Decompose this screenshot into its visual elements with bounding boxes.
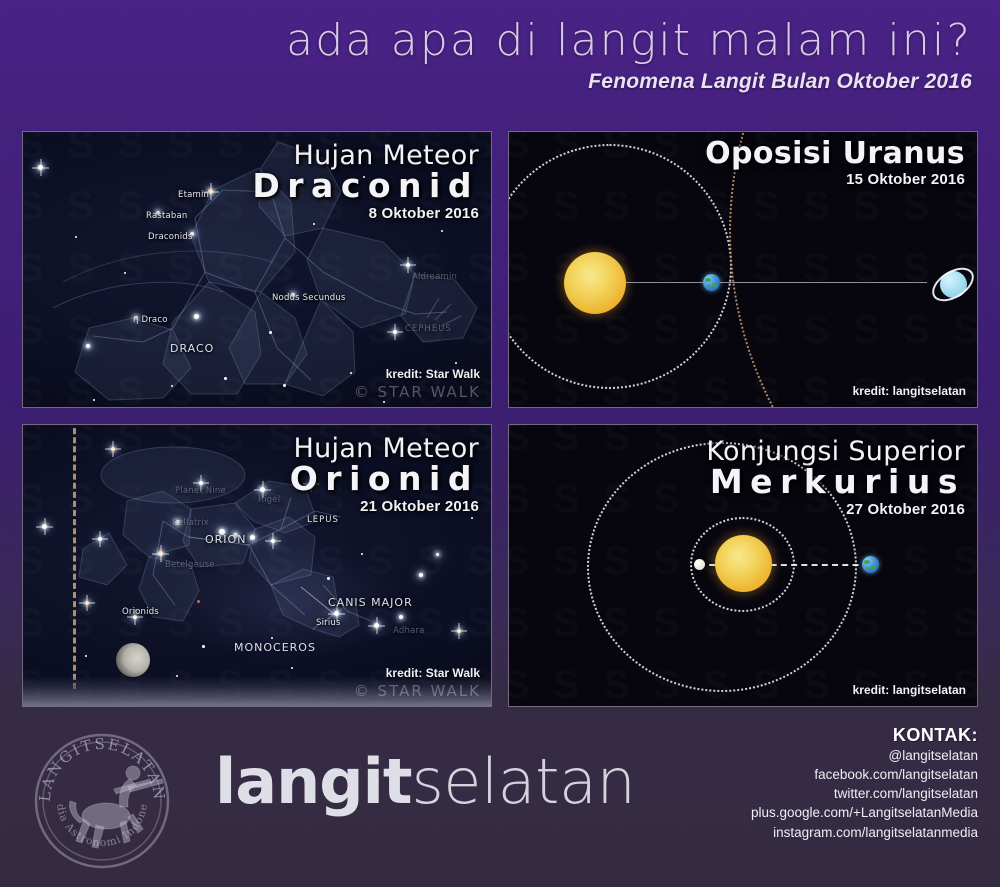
star-decorative bbox=[313, 223, 315, 225]
star-decorative bbox=[224, 377, 227, 380]
star-label: ORION bbox=[205, 533, 246, 546]
watermark-glyph-s: S bbox=[982, 508, 1000, 554]
watermark-glyph-s: S bbox=[0, 138, 21, 184]
panel-uranus-heading: Oposisi Uranus 15 Oktober 2016 bbox=[705, 140, 965, 188]
uranus-group bbox=[929, 260, 977, 308]
watermark-glyph-s: S bbox=[953, 541, 978, 581]
watermark-glyph-s: S bbox=[508, 424, 530, 457]
star-label: Sirius bbox=[316, 618, 341, 628]
star-sirius bbox=[334, 611, 339, 616]
watermark-glyph-s: S bbox=[0, 212, 21, 258]
contact-block: KONTAK: @langitselatanfacebook.com/langi… bbox=[751, 725, 978, 842]
star-label: Rastaban bbox=[146, 211, 188, 221]
earth bbox=[703, 274, 720, 291]
panel-name: Oposisi Uranus bbox=[705, 138, 965, 170]
star-label: Draconids bbox=[148, 232, 193, 242]
panel-draconid-heading: Hujan Meteor Draconid 8 Oktober 2016 bbox=[252, 142, 479, 222]
watermark-glyph-s: S bbox=[982, 212, 1000, 258]
star-decorative bbox=[455, 362, 457, 364]
star-decorative bbox=[202, 645, 205, 648]
header: ada apa di langit malam ini? Fenomena La… bbox=[0, 18, 1000, 94]
panel-draconid[interactable]: SSSSSSSSSSSSSSSSSSSSSSSSSSSSSSSSSSSSSSSS… bbox=[22, 131, 492, 408]
watermark-glyph-s: S bbox=[982, 138, 1000, 184]
star-betelgeuse bbox=[158, 551, 163, 556]
star-label: CANIS MAJOR bbox=[328, 596, 413, 609]
contact-heading: KONTAK: bbox=[751, 725, 978, 746]
star-decorative bbox=[436, 553, 439, 556]
star-orion-belt-3 bbox=[250, 535, 255, 540]
star-decorative bbox=[383, 401, 385, 403]
panel-name: Merkurius bbox=[706, 465, 965, 500]
star-label: η Draco bbox=[133, 315, 168, 325]
footer: LANGITSELATAN #Media Astronomi Indonesia… bbox=[0, 707, 1000, 887]
panel-orionid[interactable]: SSSSSSSSSSSSSSSSSSSSSSSSSSSSSSSSSSSSSSSS… bbox=[22, 424, 492, 707]
panel-oposisi-uranus[interactable]: SSSSSSSSSSSSSSSSSSSSSSSSSSSSSSSSSSSSSSSS… bbox=[508, 131, 978, 408]
star-label: MONOCEROS bbox=[234, 641, 316, 654]
earth bbox=[862, 556, 879, 573]
star-saiph bbox=[271, 539, 275, 543]
contact-link[interactable]: @langitselatan bbox=[751, 746, 978, 765]
star-decorative bbox=[75, 236, 77, 238]
starwalk-watermark: © STAR WALK bbox=[354, 383, 481, 401]
panel-merkurius-heading: Konjungsi Superior Merkurius 27 Oktober … bbox=[706, 438, 965, 518]
watermark-glyph-s: S bbox=[903, 541, 930, 581]
watermark-glyph-s: S bbox=[508, 131, 530, 164]
star-label: Nodus Secundus bbox=[272, 293, 346, 303]
star-decorative bbox=[111, 447, 115, 451]
star-decorative bbox=[124, 272, 126, 274]
watermark-glyph-s: S bbox=[508, 603, 530, 643]
starwalk-watermark: © STAR WALK bbox=[354, 682, 481, 700]
watermark-glyph-s: S bbox=[703, 372, 730, 408]
infographic-canvas: SSSSSSSSSSSSSSSSSSSSSSSSSSSSSSSSSSSSSSSS… bbox=[0, 0, 1000, 887]
watermark-glyph-s: S bbox=[0, 508, 21, 554]
watermark-glyph-s: S bbox=[603, 665, 630, 705]
star-decorative bbox=[350, 372, 352, 374]
star-decorative bbox=[271, 637, 273, 639]
wordmark-bold: langit bbox=[215, 745, 412, 818]
panel-name: Draconid bbox=[252, 169, 479, 204]
contact-link[interactable]: instagram.com/langitselatanmedia bbox=[751, 823, 978, 842]
star-label: Bellatrix bbox=[172, 518, 209, 528]
watermark-glyph-s: S bbox=[553, 479, 580, 519]
panel-konjungsi-merkurius[interactable]: SSSSSSSSSSSSSSSSSSSSSSSSSSSSSSSSSSSSSSSS… bbox=[508, 424, 978, 707]
seal-top-text: LANGITSELATAN bbox=[36, 735, 169, 803]
star-decorative bbox=[93, 399, 95, 401]
star-decorative bbox=[471, 517, 473, 519]
watermark-glyph-s: S bbox=[953, 603, 978, 643]
watermark-glyph-s: S bbox=[0, 286, 21, 332]
watermark-glyph-s: S bbox=[508, 479, 530, 519]
star-decorative bbox=[327, 577, 330, 580]
star-label: DRACO bbox=[170, 342, 214, 355]
star-adhara bbox=[374, 623, 379, 628]
watermark-glyph-s: S bbox=[0, 582, 21, 628]
watermark-glyph-s: S bbox=[982, 286, 1000, 332]
contact-link[interactable]: facebook.com/langitselatan bbox=[751, 765, 978, 784]
watermark-glyph-s: S bbox=[553, 603, 580, 643]
star-decorative bbox=[419, 573, 423, 577]
watermark-glyph-s: S bbox=[853, 603, 880, 643]
contact-links: @langitselatanfacebook.com/langitselatan… bbox=[751, 746, 978, 842]
star-decorative bbox=[38, 165, 43, 170]
star-decorative bbox=[42, 524, 47, 529]
panel-date: 15 Oktober 2016 bbox=[705, 171, 965, 188]
langitselatan-wordmark: langitselatan bbox=[215, 751, 635, 813]
watermark-glyph-s: S bbox=[508, 665, 530, 705]
star-planet-nine bbox=[199, 481, 203, 485]
watermark-glyph-s: S bbox=[0, 434, 21, 480]
star-cepheus-alpha bbox=[393, 330, 397, 334]
moon bbox=[116, 643, 150, 677]
opposition-alignment-line bbox=[607, 282, 927, 283]
contact-link[interactable]: twitter.com/langitselatan bbox=[751, 784, 978, 803]
star-decorative bbox=[291, 667, 293, 669]
page-subtitle: Fenomena Langit Bulan Oktober 2016 bbox=[0, 70, 972, 94]
panel-credit: kredit: Star Walk bbox=[386, 666, 480, 680]
panel-credit: kredit: langitselatan bbox=[853, 384, 966, 398]
watermark-glyph-s: S bbox=[508, 372, 530, 408]
mercury bbox=[694, 559, 705, 570]
page-title: ada apa di langit malam ini? bbox=[0, 18, 972, 64]
watermark-glyph-s: S bbox=[553, 541, 580, 581]
star-decorative bbox=[361, 553, 363, 555]
star-rigel bbox=[260, 487, 265, 492]
star-label: Orionids bbox=[122, 607, 159, 617]
star-label: LEPUS bbox=[307, 515, 339, 525]
watermark-glyph-s: S bbox=[553, 665, 580, 705]
watermark-glyph-s: S bbox=[803, 665, 830, 705]
panel-credit: kredit: langitselatan bbox=[853, 683, 966, 697]
star-decorative bbox=[441, 230, 443, 232]
watermark-glyph-s: S bbox=[903, 603, 930, 643]
star-label: Adhara bbox=[393, 626, 425, 636]
panel-name: Orionid bbox=[290, 462, 479, 497]
watermark-glyph-s: S bbox=[603, 424, 630, 457]
watermark-glyph-s: S bbox=[982, 434, 1000, 480]
star-bright-draco bbox=[194, 314, 199, 319]
star-decorative bbox=[86, 344, 90, 348]
watermark-glyph-s: S bbox=[982, 360, 1000, 406]
watermark-glyph-s: S bbox=[553, 424, 580, 457]
watermark-glyph-s: S bbox=[982, 656, 1000, 702]
watermark-glyph-s: S bbox=[508, 541, 530, 581]
sun bbox=[715, 535, 772, 592]
wordmark-thin: selatan bbox=[412, 745, 636, 818]
star-label: Planet Nine bbox=[175, 486, 226, 496]
panel-orionid-heading: Hujan Meteor Orionid 21 Oktober 2016 bbox=[290, 435, 479, 515]
sun bbox=[564, 252, 626, 314]
star-decorative bbox=[283, 384, 286, 387]
star-label: Rigel bbox=[258, 495, 280, 505]
watermark-glyph-s: S bbox=[0, 360, 21, 406]
star-label: Aldreamin bbox=[412, 272, 457, 282]
star-decorative bbox=[85, 601, 89, 605]
star-label: Betelgeuse bbox=[165, 560, 215, 570]
panel-date: 27 Oktober 2016 bbox=[706, 501, 965, 518]
star-nebula-marker bbox=[197, 600, 200, 603]
star-label: CEPHEUS bbox=[405, 324, 452, 334]
panel-date: 21 Oktober 2016 bbox=[290, 498, 479, 515]
panel-date: 8 Oktober 2016 bbox=[252, 205, 479, 222]
star-decorative bbox=[171, 385, 173, 387]
uranus-ring bbox=[926, 261, 978, 308]
watermark-glyph-s: S bbox=[0, 656, 21, 702]
star-decorative bbox=[457, 629, 461, 633]
star-canis-major bbox=[399, 615, 403, 619]
star-aldreamin bbox=[406, 263, 410, 267]
ecliptic-line bbox=[73, 424, 76, 689]
panel-credit: kredit: Star Walk bbox=[386, 367, 480, 381]
langitselatan-seal-logo: LANGITSELATAN #Media Astronomi Indonesia… bbox=[32, 731, 172, 871]
contact-link[interactable]: plus.google.com/+LangitselatanMedia bbox=[751, 803, 978, 822]
star-decorative bbox=[85, 655, 87, 657]
watermark-glyph-s: S bbox=[982, 582, 1000, 628]
star-decorative bbox=[269, 331, 272, 334]
star-decorative bbox=[98, 537, 102, 541]
star-label: Etamin bbox=[178, 190, 209, 200]
